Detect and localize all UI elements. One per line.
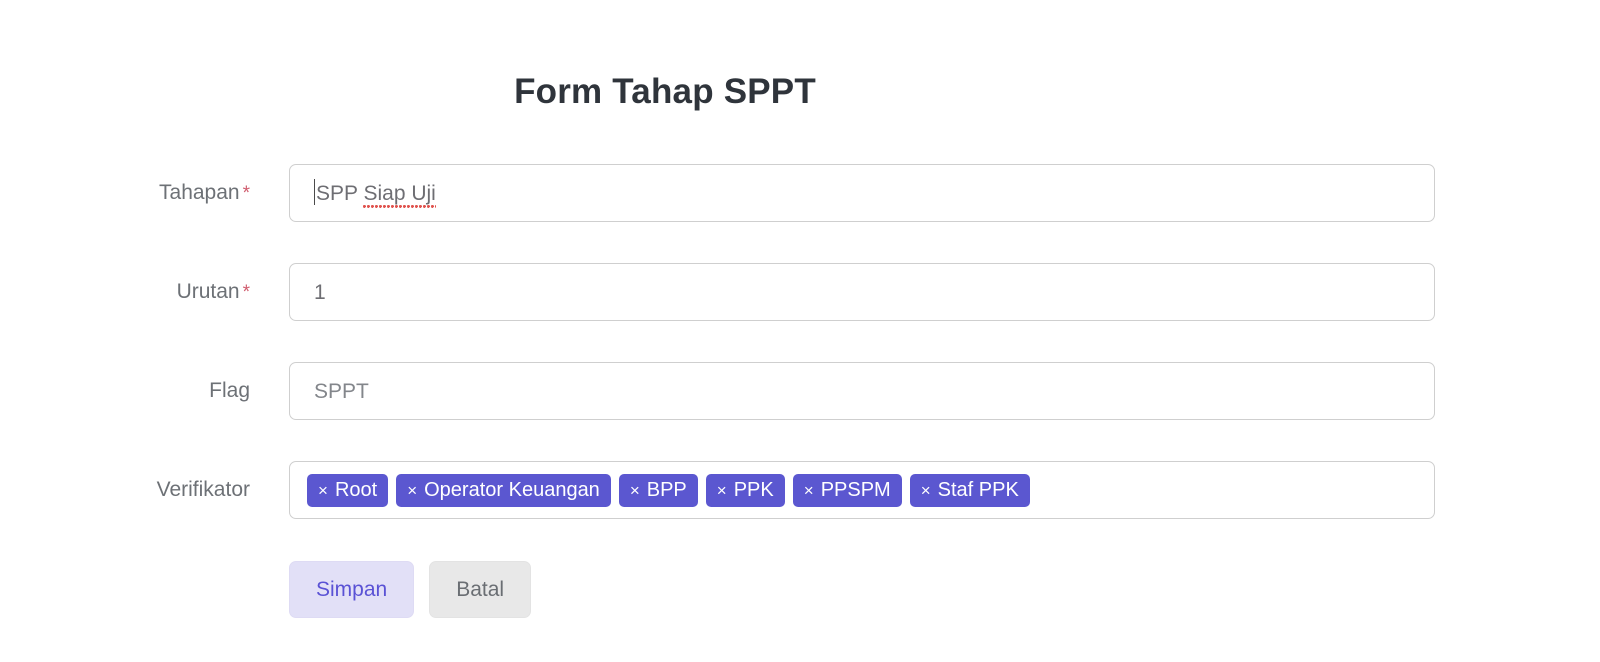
label-tahapan-text: Tahapan (159, 181, 240, 204)
input-flag-value: SPPT (314, 363, 369, 421)
input-flag[interactable]: SPPT (289, 362, 1435, 420)
tag-remove-icon[interactable]: × (630, 482, 640, 499)
label-flag-text: Flag (209, 379, 250, 402)
label-flag: Flag (0, 362, 250, 420)
verifikator-tag[interactable]: ×Root (307, 474, 388, 507)
input-urutan-value: 1 (314, 264, 326, 322)
tag-remove-icon[interactable]: × (318, 482, 328, 499)
label-verifikator: Verifikator (0, 461, 250, 519)
required-marker-tahapan: * (243, 183, 250, 204)
save-button[interactable]: Simpan (289, 561, 414, 618)
form-row-tahapan: Tahapan* SPP Siap Uji (0, 164, 1600, 263)
label-verifikator-text: Verifikator (157, 478, 250, 501)
text-caret (314, 179, 315, 205)
verifikator-tag[interactable]: ×Staf PPK (910, 474, 1030, 507)
cancel-button[interactable]: Batal (429, 561, 531, 618)
verifikator-tag[interactable]: ×Operator Keuangan (396, 474, 611, 507)
input-urutan[interactable]: 1 (289, 263, 1435, 321)
form-row-flag: Flag SPPT (0, 362, 1600, 461)
input-tahapan-value: SPP Siap Uji (314, 165, 436, 223)
verifikator-tag-label: Staf PPK (938, 479, 1019, 502)
input-verifikator-multiselect[interactable]: ×Root×Operator Keuangan×BPP×PPK×PPSPM×St… (289, 461, 1435, 519)
verifikator-tag[interactable]: ×PPK (706, 474, 785, 507)
input-tahapan-value-normal: SPP (316, 182, 363, 205)
label-urutan-text: Urutan (177, 280, 240, 303)
tag-remove-icon[interactable]: × (717, 482, 727, 499)
page-title: Form Tahap SPPT (0, 72, 1330, 112)
verifikator-tag-label: PPK (734, 479, 774, 502)
form-row-verifikator: Verifikator ×Root×Operator Keuangan×BPP×… (0, 461, 1600, 560)
input-tahapan-value-misspelled: Siap Uji (363, 182, 435, 209)
form-row-urutan: Urutan* 1 (0, 263, 1600, 362)
verifikator-tag-label: BPP (647, 479, 687, 502)
verifikator-tag[interactable]: ×BPP (619, 474, 698, 507)
verifikator-tag-label: Operator Keuangan (424, 479, 600, 502)
form-page: Form Tahap SPPT Tahapan* SPP Siap Uji Ur… (0, 0, 1600, 662)
tahap-sppt-form: Tahapan* SPP Siap Uji Urutan* 1 Flag SPP… (0, 164, 1600, 560)
required-marker-urutan: * (243, 282, 250, 303)
tag-remove-icon[interactable]: × (921, 482, 931, 499)
form-actions: Simpan Batal (289, 561, 531, 618)
tag-remove-icon[interactable]: × (804, 482, 814, 499)
tag-remove-icon[interactable]: × (407, 482, 417, 499)
verifikator-tag-label: PPSPM (821, 479, 891, 502)
verifikator-tag[interactable]: ×PPSPM (793, 474, 902, 507)
label-urutan: Urutan* (0, 263, 250, 321)
verifikator-tag-label: Root (335, 479, 377, 502)
input-tahapan[interactable]: SPP Siap Uji (289, 164, 1435, 222)
label-tahapan: Tahapan* (0, 164, 250, 222)
